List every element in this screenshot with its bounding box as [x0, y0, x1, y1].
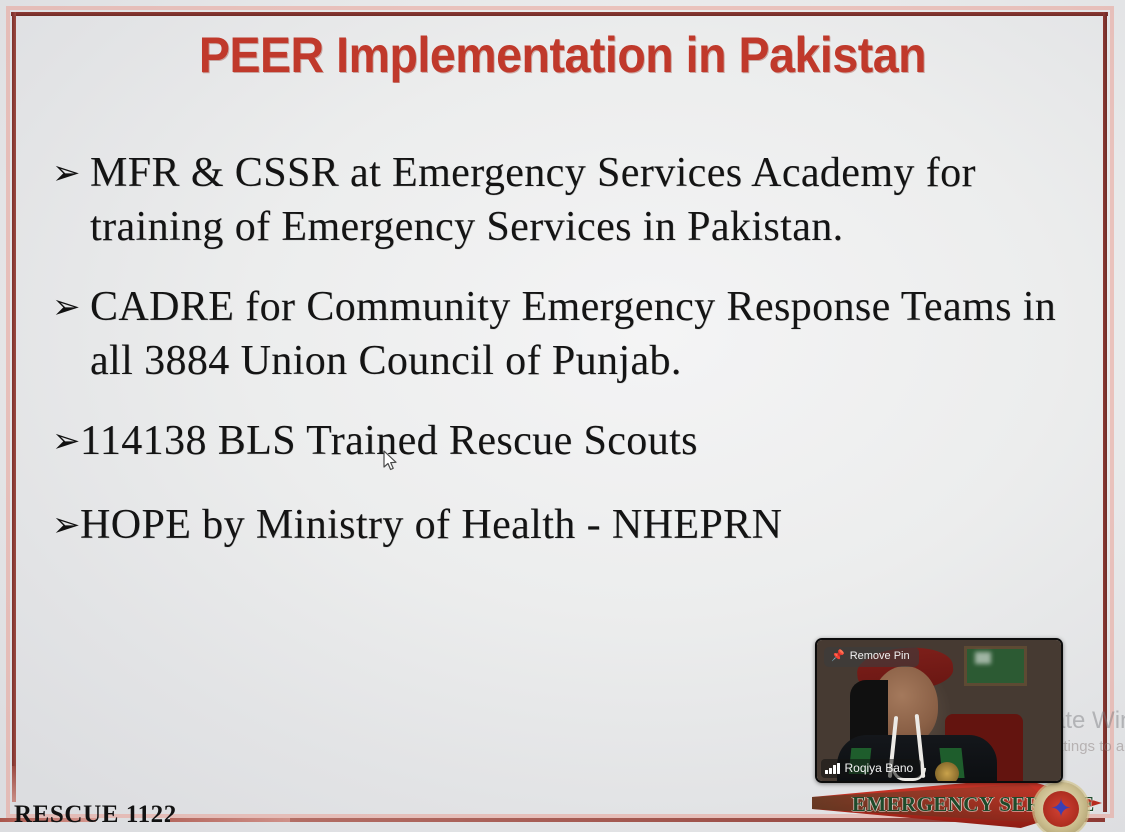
bullet-item: ➢ 114138 BLS Trained Rescue Scouts [52, 414, 1072, 468]
bullet-text: CADRE for Community Emergency Response T… [90, 280, 1072, 388]
arrow-bullet-icon: ➢ [52, 146, 90, 200]
bullet-item: ➢ MFR & CSSR at Emergency Services Acade… [52, 146, 1072, 254]
video-participant-panel[interactable]: 📌 Remove Pin Roqiya Bano [815, 638, 1063, 783]
remove-pin-button[interactable]: 📌 Remove Pin [824, 647, 919, 667]
rescue-1122-label: RESCUE 1122 [14, 801, 177, 829]
slide-bullet-list: ➢ MFR & CSSR at Emergency Services Acade… [52, 146, 1072, 578]
emergency-service-label: EMERGENCY SERVICE [852, 792, 1095, 817]
slide-title: PEER Implementation in Pakistan [39, 26, 1085, 84]
wall-picture-frame [964, 646, 1027, 686]
bullet-text: 114138 BLS Trained Rescue Scouts [80, 414, 1072, 468]
slide-border-top [11, 12, 1108, 16]
slide-border-right [1103, 12, 1107, 812]
rescue-underline-rule [170, 818, 290, 822]
arrow-bullet-icon: ➢ [52, 280, 90, 334]
bullet-item: ➢ CADRE for Community Emergency Response… [52, 280, 1072, 388]
arrow-bullet-icon: ➢ [52, 414, 80, 468]
participant-name-badge: Roqiya Bano [821, 759, 921, 778]
presentation-slide-screen: PEER Implementation in Pakistan ➢ MFR & … [0, 0, 1125, 832]
participant-name-label: Roqiya Bano [845, 761, 914, 775]
remove-pin-label: Remove Pin [850, 650, 910, 663]
uniform-crest-badge [935, 762, 959, 783]
slide-border-left-tick [12, 766, 16, 802]
bullet-text: MFR & CSSR at Emergency Services Academy… [90, 146, 1072, 254]
pushpin-icon: 📌 [831, 651, 845, 662]
bullet-text: HOPE by Ministry of Health - NHEPRN [80, 498, 1072, 552]
rescue-emblem-icon: ✦ [1034, 782, 1088, 832]
arrow-bullet-icon: ➢ [52, 498, 80, 552]
signal-bars-icon [825, 763, 840, 774]
slide-border-bottom [175, 818, 1105, 822]
bullet-item: ➢ HOPE by Ministry of Health - NHEPRN [52, 498, 1072, 552]
slide-border-left [12, 12, 16, 800]
